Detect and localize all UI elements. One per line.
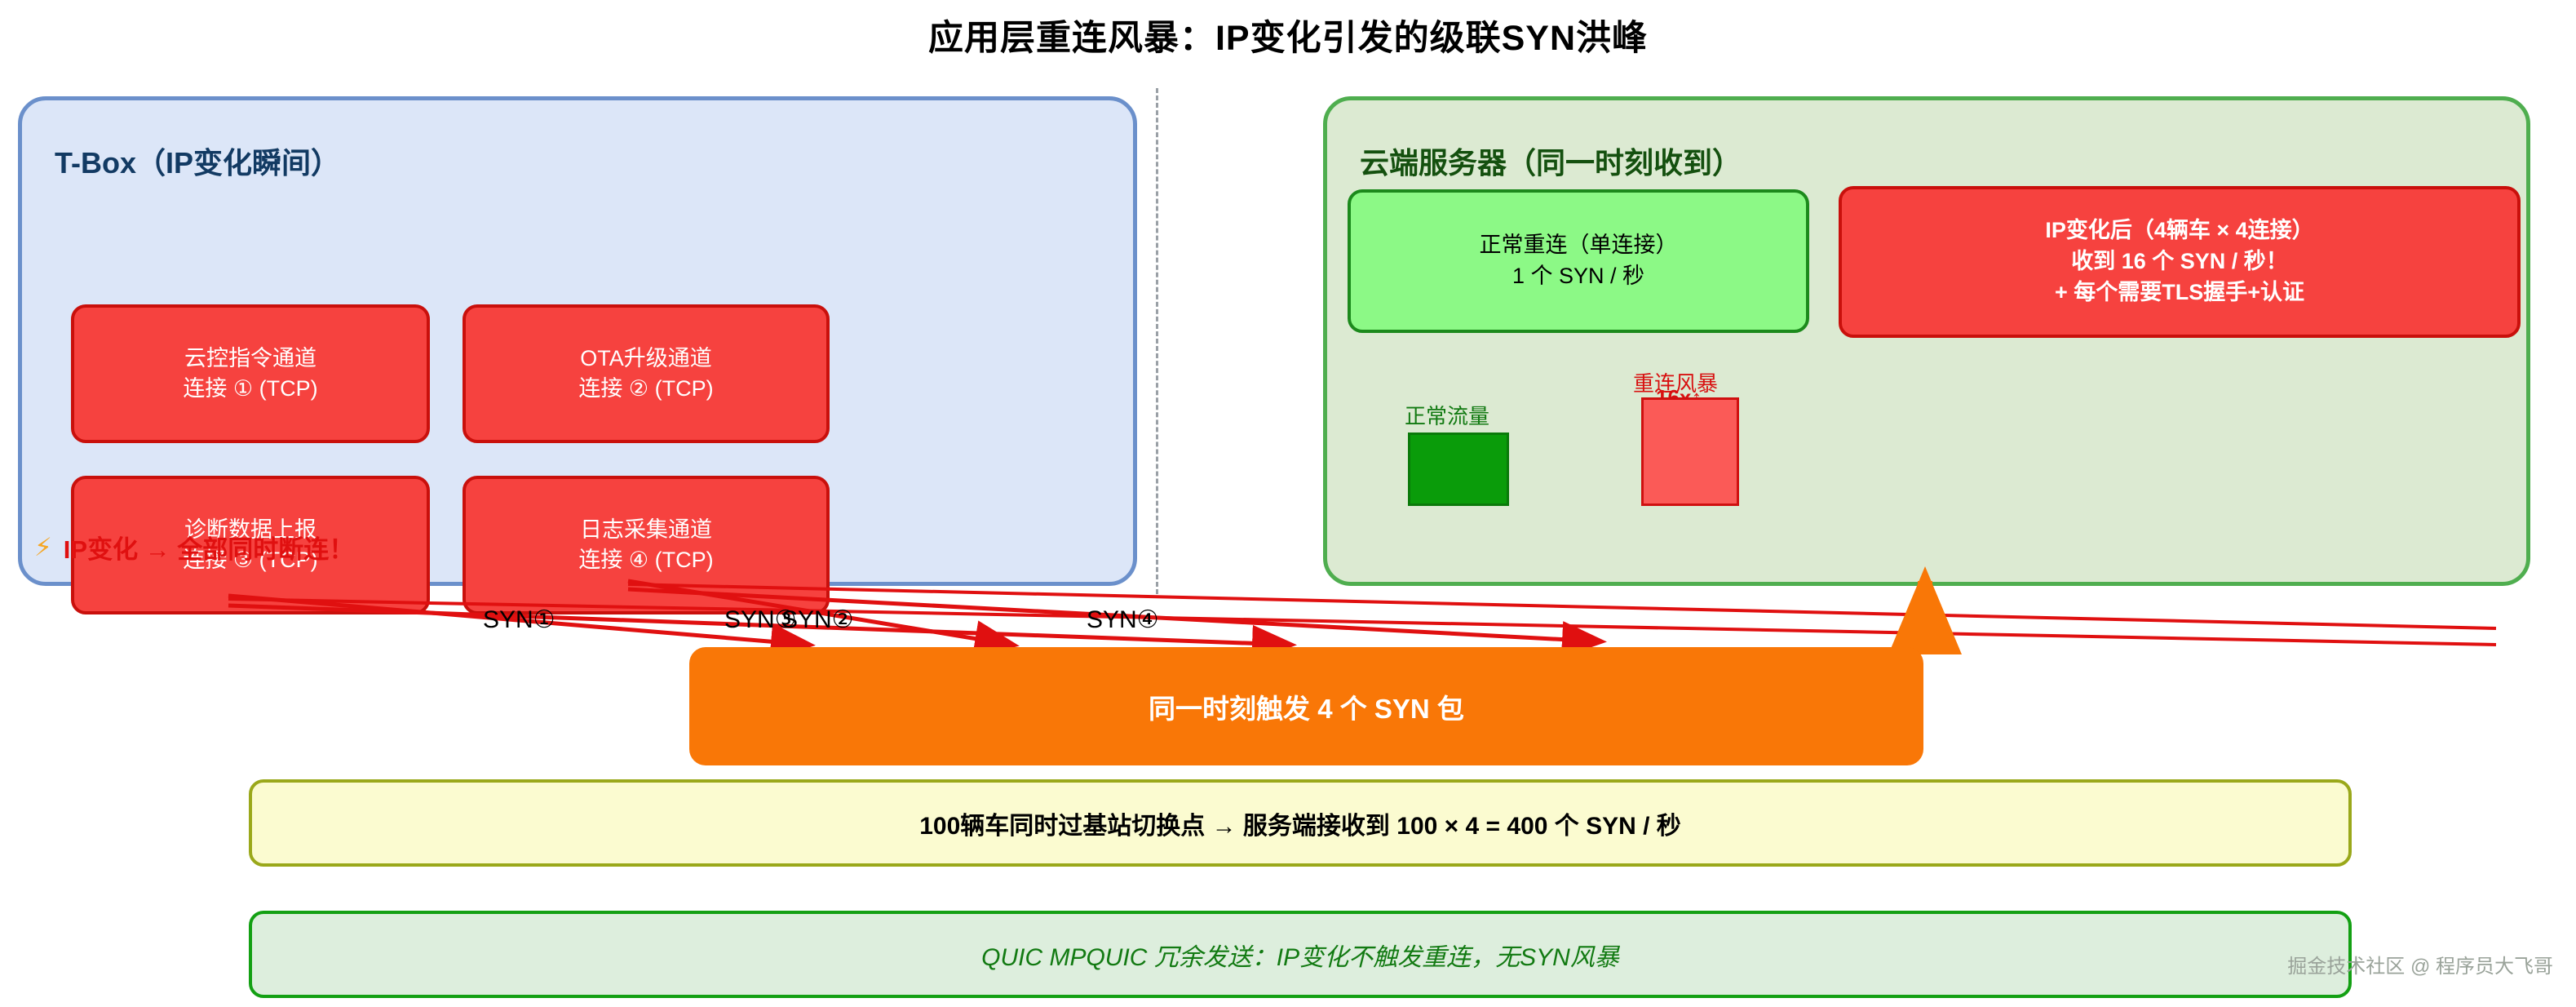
watermark: 掘金技术社区 @ 程序员大飞哥 — [2287, 950, 2553, 978]
normal-reconnect-line2: 1 个 SYN / 秒 — [1512, 261, 1644, 292]
syn-label-1: SYN① — [483, 606, 555, 634]
page-title: 应用层重连风暴：IP变化引发的级联SYN洪峰 — [0, 10, 2576, 60]
simultaneous-syn-banner: 同一时刻触发 4 个 SYN 包 — [689, 647, 1923, 765]
connection-1-name: 云控指令通道 — [184, 344, 316, 374]
diagram-canvas: 应用层重连风暴：IP变化引发的级联SYN洪峰 T-Box（IP变化瞬间） 云控指… — [0, 0, 2576, 1007]
connection-box-2[interactable]: OTA升级通道 连接 ② (TCP) — [463, 304, 830, 443]
syn-label-2: SYN② — [781, 606, 854, 634]
lightning-bolt-icon: ⚡ — [34, 533, 52, 562]
vertical-divider — [1156, 88, 1158, 594]
syn-storm-box[interactable]: IP变化后（4辆车 × 4连接） 收到 16 个 SYN / 秒！ + 每个需要… — [1839, 186, 2521, 338]
connection-1-detail: 连接 ① (TCP) — [183, 374, 317, 404]
bar-normal-traffic — [1408, 433, 1509, 506]
cloud-server-panel: 云端服务器（同一时刻收到） — [1323, 96, 2530, 586]
fleet-scale-banner: 100辆车同时过基站切换点 → 服务端接收到 100 × 4 = 400 个 S… — [249, 779, 2352, 867]
tbox-panel-title: T-Box（IP变化瞬间） — [55, 140, 340, 182]
connection-box-4[interactable]: 日志采集通道 连接 ④ (TCP) — [463, 476, 830, 614]
syn-label-4: SYN④ — [1087, 606, 1159, 634]
ip-change-warning: ⚡ IP变化 → 全部同时断连！ — [34, 529, 354, 566]
normal-reconnect-box[interactable]: 正常重连（单连接） 1 个 SYN / 秒 — [1348, 189, 1809, 333]
normal-reconnect-line1: 正常重连（单连接） — [1480, 230, 1678, 261]
connection-2-detail: 连接 ② (TCP) — [578, 374, 713, 404]
syn-arrow-long-2 — [628, 584, 2496, 628]
ip-change-warning-text: IP变化 → 全部同时断连！ — [64, 529, 355, 566]
connection-4-detail: 连接 ④ (TCP) — [578, 545, 713, 575]
syn-storm-line1: IP变化后（4辆车 × 4连接） — [2045, 215, 2313, 246]
syn-storm-line2: 收到 16 个 SYN / 秒！ — [2071, 246, 2288, 277]
connection-box-1[interactable]: 云控指令通道 连接 ① (TCP) — [71, 304, 430, 443]
quic-solution-banner: QUIC MPQUIC 冗余发送：IP变化不触发重连，无SYN风暴 — [249, 911, 2352, 998]
bar-reconnect-storm — [1641, 397, 1739, 506]
connection-2-name: OTA升级通道 — [580, 344, 712, 374]
connection-4-name: 日志采集通道 — [580, 515, 712, 545]
syn-storm-line3: + 每个需要TLS握手+认证 — [2055, 277, 2304, 308]
tbox-panel: T-Box（IP变化瞬间） 云控指令通道 连接 ① (TCP) OTA升级通道 … — [18, 96, 1137, 586]
cloud-server-panel-title: 云端服务器（同一时刻收到） — [1360, 140, 1742, 182]
bar-label-normal-traffic: 正常流量 — [1405, 400, 1489, 430]
